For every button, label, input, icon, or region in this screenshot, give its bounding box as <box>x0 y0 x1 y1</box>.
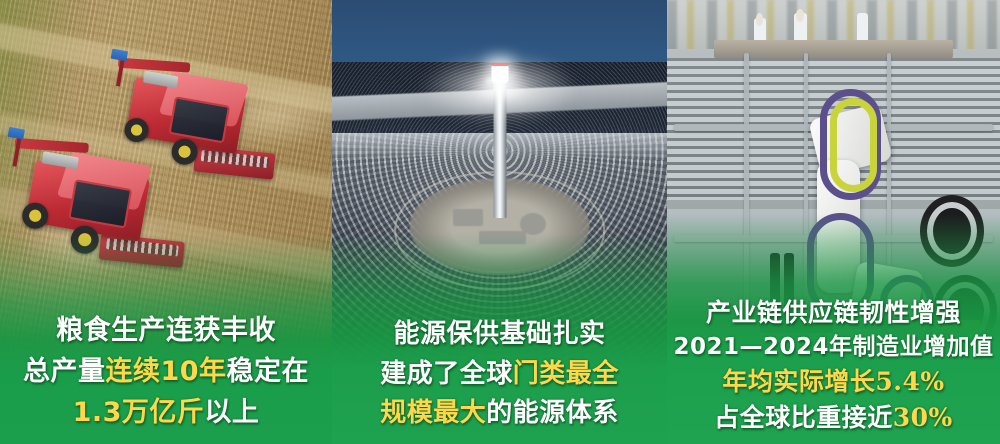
caption-line-4: 占全球比重接近30% <box>667 403 1000 433</box>
caption-line-3: 年均实际增长5.4% <box>667 367 1000 397</box>
safety-fence-post <box>887 53 892 297</box>
three-panel-infographic-poster: 粮食生产连获丰收 总产量连续10年稳定在 1.3万亿斤以上 <box>0 0 1000 444</box>
yellow-cable-loop <box>830 98 877 192</box>
panel-energy: 能源保供基础扎实 建成了全球门类最全 规模最大的能源体系 <box>332 0 667 444</box>
worker-helmet <box>756 13 763 25</box>
receiver-glow <box>422 53 572 123</box>
caption-line-3: 规模最大的能源体系 <box>332 398 667 429</box>
caption-text: 粮食生产连获丰收 <box>56 315 276 346</box>
caption-energy: 能源保供基础扎实 建成了全球门类最全 规模最大的能源体系 <box>332 319 667 438</box>
caption-highlight: 年均实际增长 <box>722 367 875 396</box>
caption-highlight: 门类最全 <box>513 359 619 389</box>
caption-text: 产业链供应链韧性增强 <box>706 298 961 327</box>
tire <box>920 195 984 267</box>
harvester-auger <box>14 138 89 153</box>
caption-text: 2021—2024年制造业增加值 <box>673 334 993 360</box>
panel-agriculture: 粮食生产连获丰收 总产量连续10年稳定在 1.3万亿斤以上 <box>0 0 332 444</box>
plant-building <box>453 209 483 227</box>
harvester-auger <box>118 58 191 73</box>
panel-industry: 产业链供应链韧性增强 2021—2024年制造业增加值 年均实际增长5.4% 占… <box>667 0 1000 444</box>
caption-line-2: 总产量连续10年稳定在 <box>0 356 332 388</box>
caption-industry: 产业链供应链韧性增强 2021—2024年制造业增加值 年均实际增长5.4% 占… <box>667 298 1000 438</box>
caption-text: 建成了全球 <box>380 359 513 389</box>
overhead-beam <box>714 40 954 58</box>
safety-fence-post <box>744 53 749 311</box>
caption-text: 稳定在 <box>227 356 310 387</box>
caption-line-1: 产业链供应链韧性增强 <box>667 298 1000 328</box>
caption-text: 总产量 <box>23 356 106 387</box>
caption-highlight-number: 5.4% <box>875 367 944 396</box>
caption-line-1: 能源保供基础扎实 <box>332 319 667 350</box>
caption-highlight: 连续10年 <box>105 356 226 387</box>
caption-line-3: 1.3万亿斤以上 <box>0 397 332 429</box>
harvester-flag <box>7 127 24 140</box>
caption-text: 占全球比重接近 <box>714 403 893 432</box>
caption-agriculture: 粮食生产连获丰收 总产量连续10年稳定在 1.3万亿斤以上 <box>0 315 332 438</box>
plant-building <box>479 231 526 244</box>
caption-highlight: 规模最大 <box>380 398 486 428</box>
caption-text: 的能源体系 <box>486 398 619 428</box>
caption-text: 能源保供基础扎实 <box>393 319 605 349</box>
caption-line-1: 粮食生产连获丰收 <box>0 315 332 347</box>
caption-highlight-number: 30% <box>893 403 953 432</box>
caption-text: 以上 <box>204 397 259 428</box>
caption-line-2: 2021—2024年制造业增加值 <box>667 334 1000 361</box>
caption-highlight: 1.3万亿斤 <box>73 397 205 428</box>
caption-line-2: 建成了全球门类最全 <box>332 359 667 390</box>
